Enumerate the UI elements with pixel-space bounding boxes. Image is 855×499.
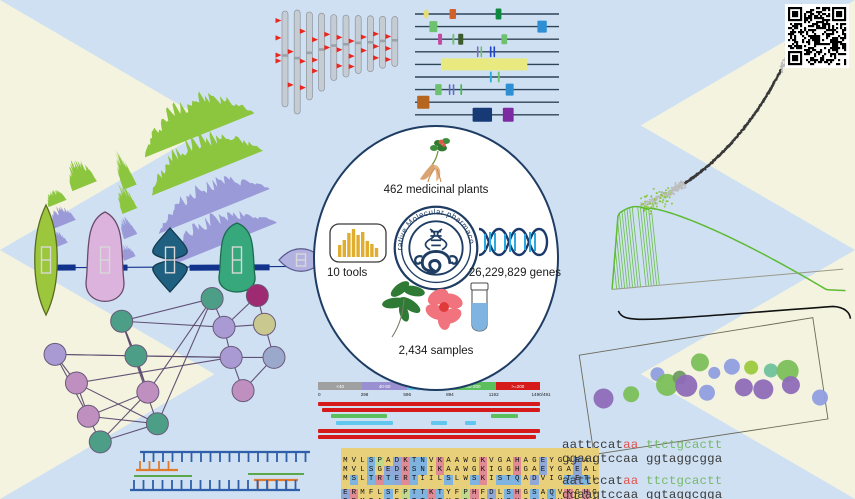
alignment-block-1: MVLSPADKTNVKAAWGKVGAHAGEYGAEALMVLSGEDKSN… <box>341 448 599 478</box>
dna-sequence-line: aattccataa ttctgcactt <box>562 438 722 452</box>
samples-label: 2,434 samples <box>399 345 474 357</box>
medicinal-plants-label: 462 medicinal plants <box>384 184 489 196</box>
gene-structure-panel <box>413 4 565 122</box>
amino-acid-alignment-panel: MVLSPADKTNVKAAWGKVGAHAGEYGAEALMVLSGEDKSN… <box>341 448 599 499</box>
blast-hit-bar[interactable] <box>318 402 540 406</box>
qr-code[interactable] <box>785 4 849 68</box>
blast-hit-bar[interactable] <box>431 421 447 425</box>
dna-sequence-line: ggaagtccaa ggtaggcgga <box>562 488 722 499</box>
blast-tick: 1490/491 <box>531 392 550 397</box>
blast-hit-bar[interactable] <box>331 414 387 418</box>
graphical-abstract-canvas: <4040-5050-8080-200>=200 029859689411921… <box>0 0 855 499</box>
dna-sequence-text-panel: aattccataa ttctgcacttggaagtccaa ggtaggcg… <box>562 438 722 499</box>
dna-sequence-entry: aattccataa ttctgcacttggaagtccaa ggtaggcg… <box>562 438 722 466</box>
center-summary-circle: 462 medicinal plants 10 tools <box>313 125 559 391</box>
blast-hit-bars <box>318 402 540 452</box>
blast-hit-bar[interactable] <box>318 429 540 433</box>
tools-label: 10 tools <box>327 267 367 279</box>
bubble-plot-panel <box>572 300 834 460</box>
alignment-row: ERMFLSFPTTKTYFPHFDLSHGSAQVKGHG <box>341 481 599 490</box>
alignment-row: MVLSPADKTNVKAAWGKVGAHAGEYGAEAL <box>341 449 599 458</box>
alignment-row: MSLTRTERTIILSLWSKISTQADVIGTETL <box>341 467 599 476</box>
blast-tick-row: 029859689411921490/491 <box>318 392 540 401</box>
blast-hit-bar[interactable] <box>318 435 536 439</box>
dna-sequence-line: ggaagtccaa ggtaggcgga <box>562 452 722 466</box>
chromosome-variant-panel <box>272 2 402 120</box>
blast-hit-bar[interactable] <box>336 421 394 425</box>
primer-design-panel <box>126 444 316 496</box>
genes-label: 26,229,829 genes <box>469 267 561 279</box>
blast-tick: 894 <box>446 392 454 397</box>
bar-chart-icon <box>329 223 387 263</box>
alignment-row: ERMFASFPTTKTYFPHFDVSHGSAQVKGHG <box>341 490 599 499</box>
blast-tick: 0 <box>318 392 321 397</box>
blast-legend-0: <40 <box>318 382 362 390</box>
alignment-block-2: ERMFLSFPTTKTYFPHFDLSHGSAQVKGHGERMFASFPTT… <box>341 480 599 499</box>
leaf-flower-tube-icon <box>376 279 496 345</box>
network-graph-panel <box>30 282 292 468</box>
dna-sequence-line: aattccataa ttctgcactt <box>562 474 722 488</box>
alignment-row: MVLSGEDKSNIKAAWGKIGGHGAEYGAEAL <box>341 458 599 467</box>
dna-helix-icon <box>477 225 549 259</box>
dna-sequence-entry: aattccataa ttctgcacttggaagtccaa ggtaggcg… <box>562 474 722 499</box>
blast-legend-4: >=200 <box>496 382 540 390</box>
blast-hit-bar[interactable] <box>465 421 476 425</box>
ginseng-plant-icon <box>408 135 464 185</box>
blast-hit-bar[interactable] <box>322 408 540 412</box>
blast-tick: 596 <box>403 392 411 397</box>
blast-hit-bar[interactable] <box>491 414 518 418</box>
blast-tick: 298 <box>361 392 369 397</box>
blast-tick: 1192 <box>489 392 499 397</box>
